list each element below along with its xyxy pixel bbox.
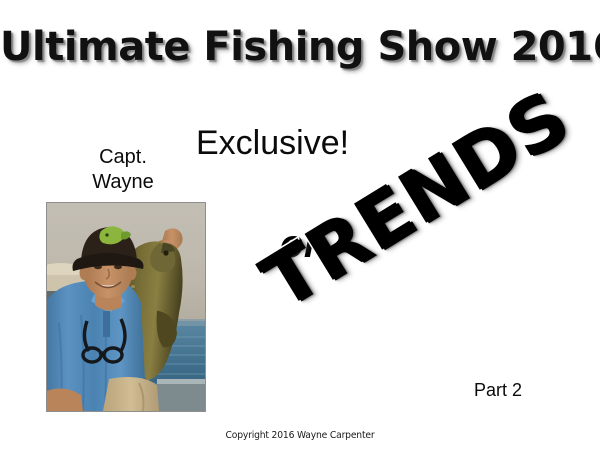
page-title: Ultimate Fishing Show 2016 bbox=[0, 24, 600, 70]
presenter-photo-image bbox=[47, 203, 205, 411]
presenter-caption-line1: Capt. bbox=[58, 145, 188, 170]
presenter-photo bbox=[46, 202, 206, 412]
trends-headline-container: TRENDS bbox=[300, 180, 600, 390]
exclusive-headline: Exclusive! bbox=[196, 124, 349, 162]
trends-headline: TRENDS bbox=[250, 78, 581, 323]
part-label: Part 2 bbox=[474, 379, 522, 401]
presenter-caption: Capt. Wayne bbox=[58, 145, 188, 195]
presenter-caption-line2: Wayne bbox=[58, 170, 188, 195]
copyright-notice: Copyright 2016 Wayne Carpenter bbox=[24, 429, 576, 442]
presentation-slide: Ultimate Fishing Show 2016 Exclusive! Ca… bbox=[0, 0, 600, 450]
